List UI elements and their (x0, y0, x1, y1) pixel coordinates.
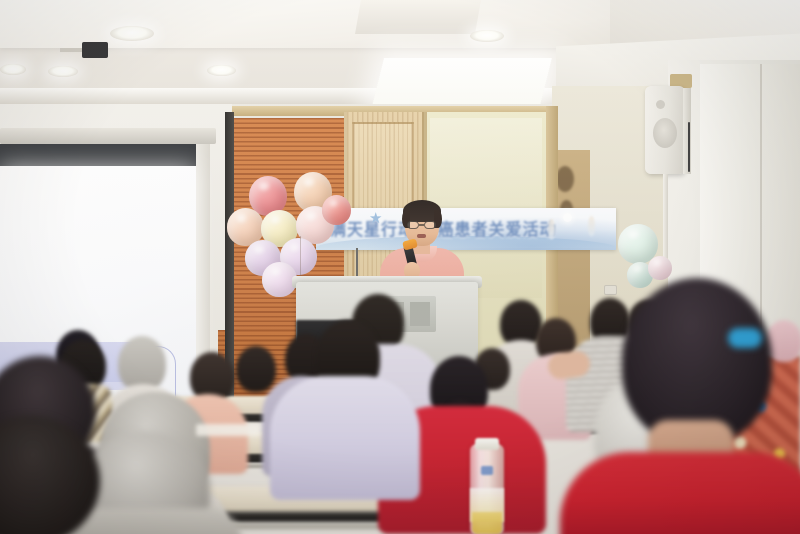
bottle-logo (481, 466, 493, 475)
glasses-icon (407, 221, 419, 229)
attendee-head (236, 346, 276, 392)
ceiling-projector-mount (82, 42, 108, 58)
star-icon: ★ (369, 209, 385, 225)
glasses-icon (424, 221, 436, 229)
loudspeaker-tweeter-icon (656, 100, 665, 109)
speaker-mouth (417, 234, 426, 238)
wall-outlet[interactable] (604, 285, 617, 295)
bottle-cap (475, 438, 499, 450)
downlight-icon (207, 65, 236, 76)
hair-clip-icon (728, 328, 762, 348)
wood-damage-spot (556, 166, 574, 192)
bottle-liquid (472, 512, 502, 534)
ceiling-panel-light (372, 58, 552, 106)
downlight-icon (48, 66, 78, 77)
glasses-bridge (419, 224, 424, 226)
downlight-icon (110, 26, 154, 41)
banner-title-text: 满天星行动 肺癌患者关爱活动 (330, 211, 560, 246)
attendee-body-lavender (270, 376, 420, 500)
paper-on-desk (196, 424, 260, 436)
banner-figure (548, 219, 555, 239)
ceiling-vent (355, 0, 481, 34)
balloon-coral (322, 195, 351, 225)
projector-screen-top-bar (0, 144, 205, 168)
podium-slot (410, 302, 430, 326)
speaker-cable (688, 122, 690, 172)
banner-figure (588, 216, 595, 236)
banner-sun (563, 213, 572, 222)
balloon-pale-pink (648, 256, 672, 280)
loudspeaker-woofer-icon (653, 118, 677, 148)
event-photo-scene: 满天星行动 肺癌患者关爱活动 ★ (0, 0, 800, 534)
attendee-body-red-foreground (560, 452, 800, 534)
downlight-icon (0, 64, 26, 75)
speaker-pole (663, 174, 668, 258)
downlight-icon (470, 30, 504, 42)
projector-screen-housing (0, 128, 216, 144)
